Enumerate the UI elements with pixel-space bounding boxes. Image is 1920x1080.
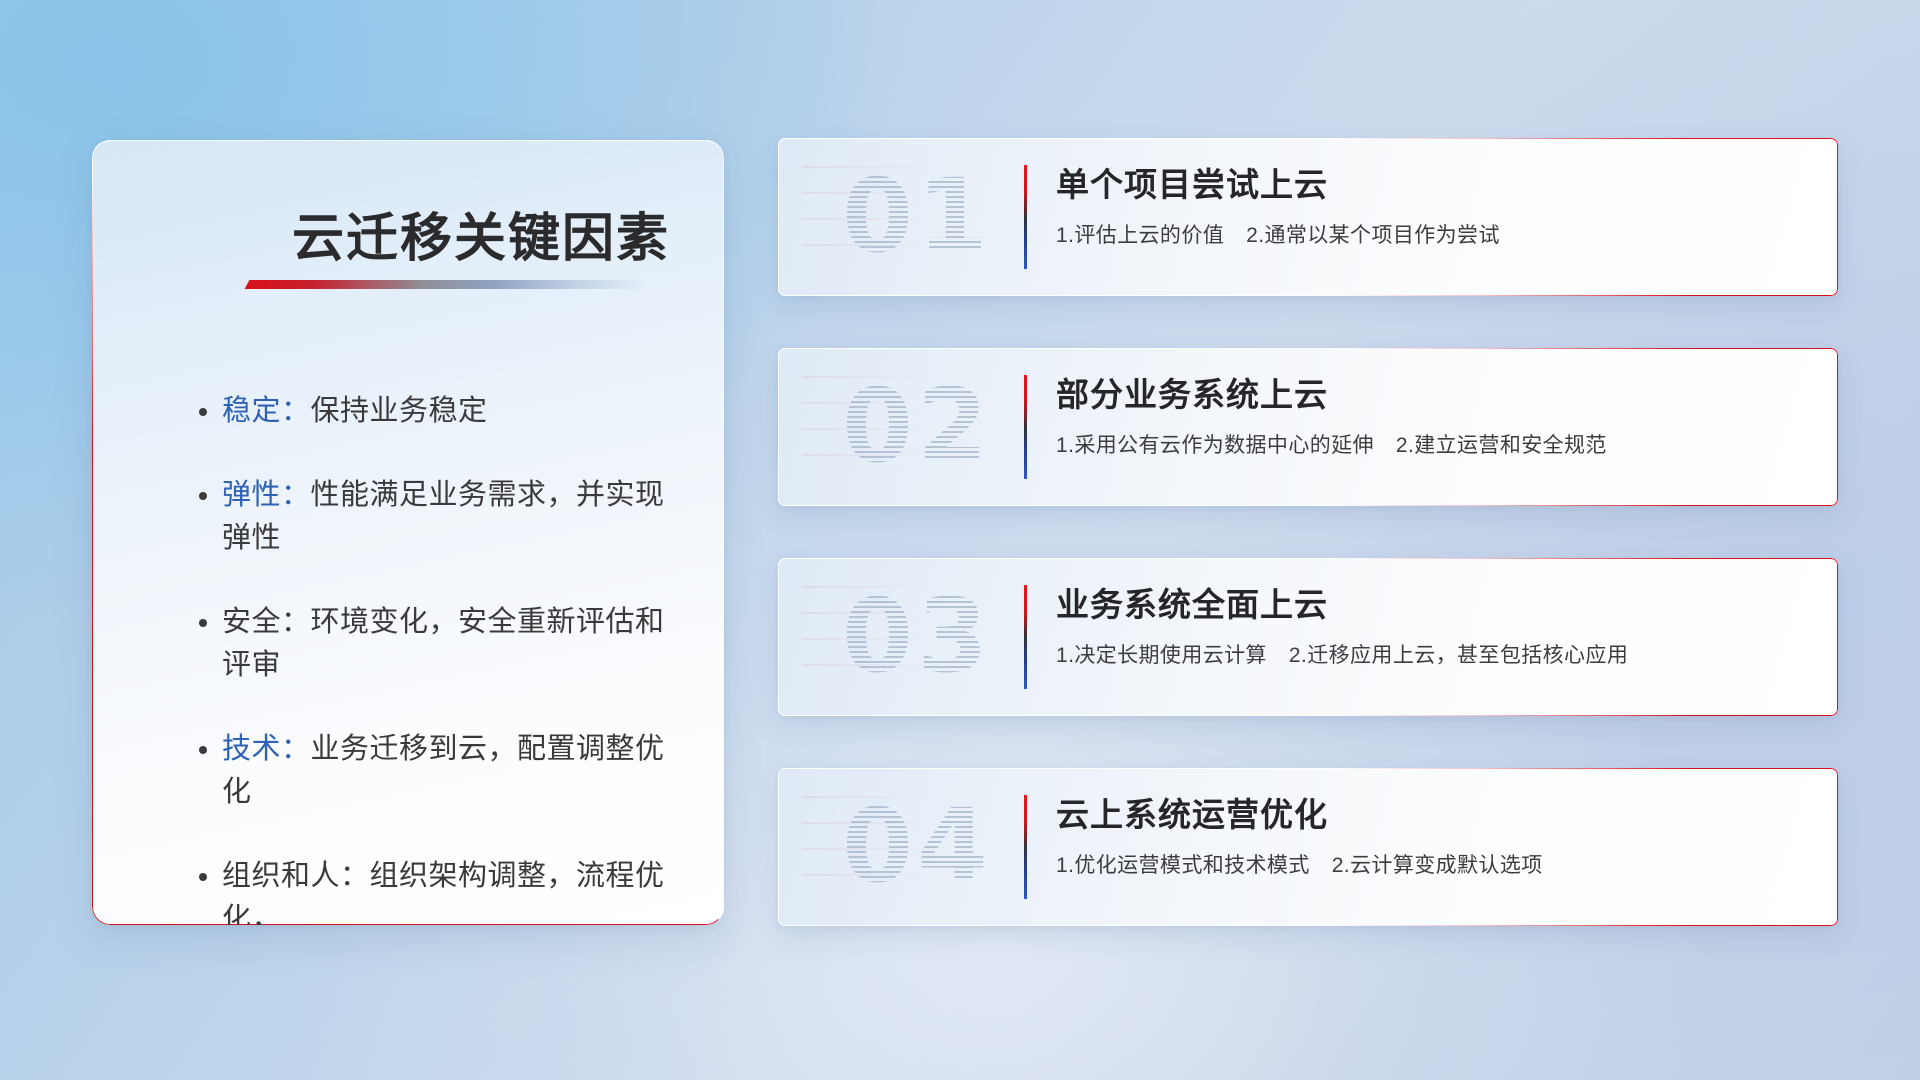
card-description: 1.评估上云的价值2.通常以某个项目作为尝试 <box>1056 219 1802 249</box>
card-point-2: 2.建立运营和安全规范 <box>1396 434 1607 457</box>
factor-list: 稳定：保持业务稳定弹性：性能满足业务需求，并实现弹性安全：环境变化，安全重新评估… <box>222 390 680 925</box>
card-divider <box>1024 585 1027 689</box>
factor-label: 安全： <box>222 606 311 638</box>
card-title: 单个项目尝试上云 <box>1056 164 1802 205</box>
stage-card[interactable]: 02部分业务系统上云1.采用公有云作为数据中心的延伸2.建立运营和安全规范 <box>778 348 1838 506</box>
card-description: 1.决定长期使用云计算2.迁移应用上云，甚至包括核心应用 <box>1056 639 1802 669</box>
stage-card[interactable]: 04云上系统运营优化1.优化运营模式和技术模式2.云计算变成默认选项 <box>778 768 1838 926</box>
card-point-1: 1.评估上云的价值 <box>1056 224 1224 247</box>
slide-canvas: 云迁移关键因素 稳定：保持业务稳定弹性：性能满足业务需求，并实现弹性安全：环境变… <box>0 0 1920 1080</box>
factor-text: 保持业务稳定 <box>311 395 488 427</box>
stage-number: 04 <box>802 796 1032 898</box>
stage-card[interactable]: 03业务系统全面上云1.决定长期使用云计算2.迁移应用上云，甚至包括核心应用 <box>778 558 1838 716</box>
stage-number: 01 <box>802 166 1032 268</box>
factor-item: 弹性：性能满足业务需求，并实现弹性 <box>222 474 680 561</box>
card-title: 业务系统全面上云 <box>1056 584 1802 625</box>
factor-label: 组织和人： <box>222 860 370 892</box>
card-body: 云上系统运营优化1.优化运营模式和技术模式2.云计算变成默认选项 <box>1056 794 1802 879</box>
card-point-1: 1.决定长期使用云计算 <box>1056 644 1267 667</box>
card-point-2: 2.通常以某个项目作为尝试 <box>1246 224 1500 247</box>
card-description: 1.采用公有云作为数据中心的延伸2.建立运营和安全规范 <box>1056 429 1802 459</box>
factor-item: 技术：业务迁移到云，配置调整优化 <box>222 728 680 815</box>
stage-card[interactable]: 01单个项目尝试上云1.评估上云的价值2.通常以某个项目作为尝试 <box>778 138 1838 296</box>
factor-item: 组织和人：组织架构调整，流程优化， <box>222 855 680 926</box>
card-body: 业务系统全面上云1.决定长期使用云计算2.迁移应用上云，甚至包括核心应用 <box>1056 584 1802 669</box>
card-point-1: 1.采用公有云作为数据中心的延伸 <box>1056 434 1374 457</box>
title-underline-gradient <box>245 280 650 289</box>
card-title: 云上系统运营优化 <box>1056 794 1802 835</box>
stage-card-list: 01单个项目尝试上云1.评估上云的价值2.通常以某个项目作为尝试02部分业务系统… <box>778 138 1838 926</box>
card-body: 单个项目尝试上云1.评估上云的价值2.通常以某个项目作为尝试 <box>1056 164 1802 249</box>
factor-item: 稳定：保持业务稳定 <box>222 390 680 434</box>
stage-number: 02 <box>802 376 1032 478</box>
key-factors-panel: 云迁移关键因素 稳定：保持业务稳定弹性：性能满足业务需求，并实现弹性安全：环境变… <box>92 140 724 925</box>
card-point-1: 1.优化运营模式和技术模式 <box>1056 854 1310 877</box>
page-title: 云迁移关键因素 <box>292 196 670 271</box>
card-title: 部分业务系统上云 <box>1056 374 1802 415</box>
factor-item: 安全：环境变化，安全重新评估和评审 <box>222 601 680 688</box>
factor-label: 稳定： <box>222 395 311 427</box>
stage-number: 03 <box>802 586 1032 688</box>
card-point-2: 2.迁移应用上云，甚至包括核心应用 <box>1289 644 1628 667</box>
card-point-2: 2.云计算变成默认选项 <box>1332 854 1543 877</box>
factor-label: 技术： <box>222 733 311 765</box>
card-divider <box>1024 375 1027 479</box>
card-divider <box>1024 165 1027 269</box>
factor-label: 弹性： <box>222 479 311 511</box>
card-description: 1.优化运营模式和技术模式2.云计算变成默认选项 <box>1056 849 1802 879</box>
card-body: 部分业务系统上云1.采用公有云作为数据中心的延伸2.建立运营和安全规范 <box>1056 374 1802 459</box>
card-divider <box>1024 795 1027 899</box>
